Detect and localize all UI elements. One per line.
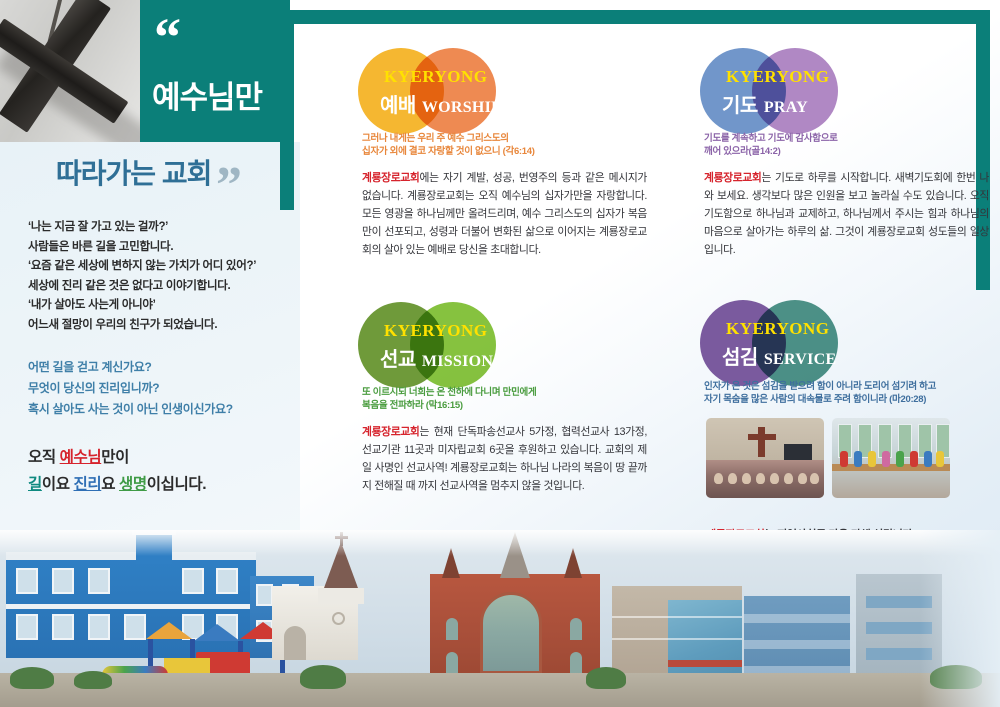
- venn-english-label: SERVICE: [764, 351, 837, 369]
- venn-worship: KYERYONG 예배 WORSHIP: [358, 48, 538, 134]
- cross-icon-arm: [748, 434, 776, 440]
- section-service: 인자가 온 것은 섬김을 받으려 함이 아니라 도리어 섬기려 하고자기 목숨을…: [704, 380, 989, 406]
- quote-close-mark: ”: [216, 160, 240, 212]
- ground-area: [0, 673, 1000, 707]
- venn-kyeryong-label: KYERYONG: [726, 319, 830, 339]
- quote-open-mark: “: [154, 10, 179, 64]
- venn-name-row: 기도 PRAY: [722, 89, 808, 118]
- mission-body: 계룡장로교회는 현재 단독파송선교사 5가정, 협력선교사 13가정, 선교기관…: [362, 423, 647, 495]
- venn-kyeryong-label: KYERYONG: [384, 67, 488, 87]
- bench-detail: [832, 464, 950, 471]
- intro-dark-text: ‘나는 지금 잘 가고 있는 걸까?’사람들은 바른 길을 고민합니다.‘요즘 …: [28, 218, 284, 335]
- photo-top-fade: [0, 530, 1000, 556]
- white-chapel: [272, 586, 358, 660]
- venn-english-label: WORSHIP: [422, 99, 501, 117]
- venn-name-row: 섬김 SERVICE: [722, 341, 836, 370]
- page-subtitle: 따라가는 교회: [56, 152, 211, 192]
- photo-right-fade: [920, 530, 1000, 707]
- service-photo-group: [706, 418, 950, 498]
- intro-blue-questions: 어떤 길을 걷고 계신가요?무엇이 당신의 진리입니까?혹시 살아도 사는 것이…: [28, 357, 284, 420]
- venn-english-label: MISSION: [422, 353, 493, 371]
- intro-final-statement: 오직 예수님만이길이요 진리요 생명이십니다.: [28, 444, 284, 498]
- venn-service: KYERYONG 섬김 SERVICE: [700, 300, 880, 386]
- congregation-photo: [706, 418, 824, 498]
- venn-kyeryong-label: KYERYONG: [384, 321, 488, 341]
- mission-verse: 또 이르시되 너희는 온 천하에 다니며 만민에게복음을 전파하라 (막16:1…: [362, 386, 647, 412]
- venn-english-label: PRAY: [764, 99, 808, 117]
- pray-verse: 기도를 계속하고 기도에 감사함으로깨어 있으라(골14:2): [704, 132, 989, 158]
- section-pray: 기도를 계속하고 기도에 감사함으로깨어 있으라(골14:2) 계룡장로교회는 …: [704, 132, 989, 259]
- venn-korean-label: 예배: [380, 89, 416, 118]
- pray-body: 계룡장로교회는 기도로 하루를 시작합니다. 새벽기도회에 한번 나와 보세요.…: [704, 169, 989, 259]
- venn-pray: KYERYONG 기도 PRAY: [700, 48, 880, 134]
- left-column-copy: ‘나는 지금 잘 가고 있는 걸까?’사람들은 바른 길을 고민합니다.‘요즘 …: [28, 218, 284, 498]
- section-mission: 또 이르시되 너희는 온 천하에 다니며 만민에게복음을 전파하라 (막16:1…: [362, 386, 647, 495]
- venn-name-row: 예배 WORSHIP: [380, 89, 501, 118]
- worship-verse: 그러나 내게는 우리 주 예수 그리스도의십자가 외에 결코 자랑할 것이 없으…: [362, 132, 647, 158]
- page-title: 예수님만: [152, 72, 262, 117]
- venn-korean-label: 기도: [722, 89, 758, 118]
- venn-korean-label: 섬김: [722, 341, 758, 370]
- brochure-page: “ 예수님만 따라가는 교회 ” ‘나는 지금 잘 가고 있는 걸까?’사람들은…: [0, 0, 1000, 707]
- campus-photo-strip: [0, 530, 1000, 707]
- title-banner: “ 예수님만: [140, 0, 290, 142]
- worship-body: 계룡장로교회에는 자기 계발, 성공, 번영주의 등과 같은 메시지가 없습니다…: [362, 169, 647, 259]
- venn-name-row: 선교 MISSION: [380, 343, 493, 372]
- venn-kyeryong-label: KYERYONG: [726, 67, 830, 87]
- cross-photo: [0, 0, 140, 142]
- venn-mission: KYERYONG 선교 MISSION: [358, 302, 538, 388]
- cross-icon: [758, 427, 765, 457]
- venn-korean-label: 선교: [380, 343, 416, 372]
- service-verse: 인자가 온 것은 섬김을 받으려 함이 아니라 도리어 섬기려 하고자기 목숨을…: [704, 380, 989, 406]
- teal-frame-top: [280, 10, 990, 24]
- children-photo: [832, 418, 950, 498]
- section-worship: 그러나 내게는 우리 주 예수 그리스도의십자가 외에 결코 자랑할 것이 없으…: [362, 132, 647, 259]
